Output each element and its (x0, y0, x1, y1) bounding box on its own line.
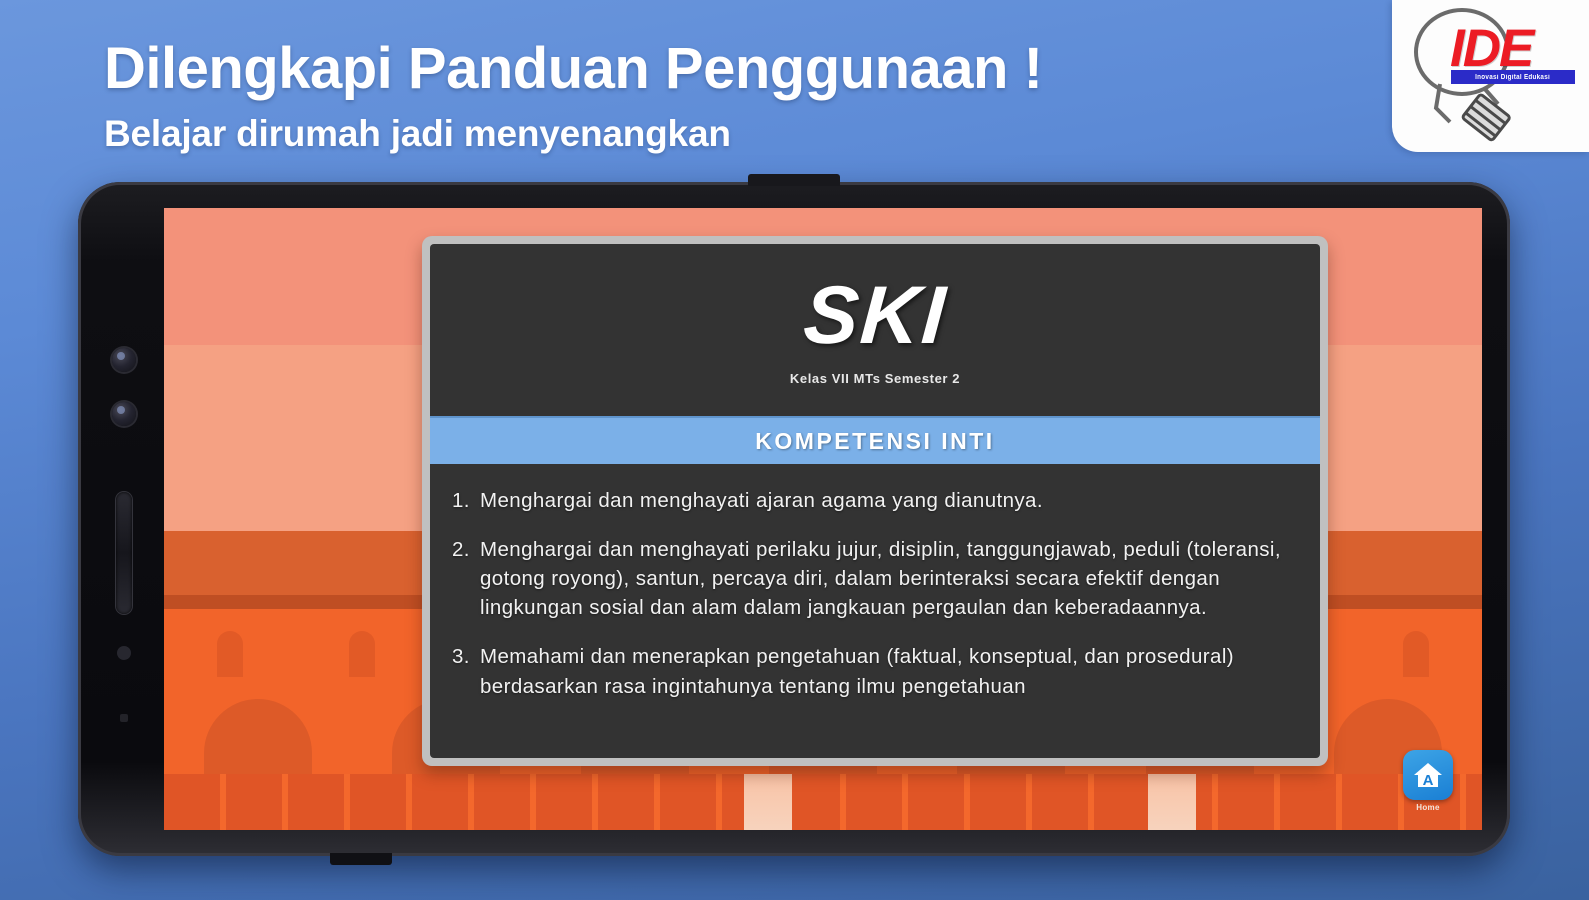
list-item-number: 1. (452, 486, 480, 515)
background-light-panel (744, 774, 792, 830)
phone-bottom-port-nub (330, 853, 392, 865)
background-window (1403, 631, 1429, 677)
background-window (349, 631, 375, 677)
page-title: Dilengkapi Panduan Penggunaan ! (104, 38, 1042, 101)
list-item-text: Menghargai dan menghayati ajaran agama y… (480, 486, 1296, 515)
lens-glint (117, 352, 125, 360)
phone-screen: SKI Kelas VII MTs Semester 2 KOMPETENSI … (164, 208, 1482, 830)
phone-left-bezel (90, 196, 164, 842)
camera-lens-icon (112, 348, 136, 372)
page-subtitle: Belajar dirumah jadi menyenangkan (104, 113, 1042, 155)
brand-logo-panel[interactable]: IDE Inovasi Digital Edukasi (1392, 0, 1589, 152)
logo-inner: IDE Inovasi Digital Edukasi (1392, 0, 1589, 152)
subject-title: SKI (801, 275, 949, 357)
lens-glint (117, 406, 125, 414)
card-title-zone: SKI Kelas VII MTs Semester 2 (430, 244, 1320, 416)
background-light-panel (1148, 774, 1196, 830)
svg-text:A: A (1423, 772, 1434, 789)
list-item-text: Menghargai dan menghayati perilaku jujur… (480, 535, 1296, 622)
speaker-slot-icon (116, 492, 132, 614)
logo-tagline-bar: Inovasi Digital Edukasi (1451, 70, 1575, 84)
list-item-text: Memahami dan menerapkan pengetahuan (fak… (480, 642, 1296, 700)
sensor-dot-icon (117, 646, 131, 660)
background-colonnade (164, 774, 1482, 830)
section-header-label: KOMPETENSI INTI (755, 428, 994, 455)
list-item: 3. Memahami dan menerapkan pengetahuan (… (452, 642, 1296, 700)
home-house-icon[interactable]: A (1403, 750, 1453, 800)
list-item: 1. Menghargai dan menghayati ajaran agam… (452, 486, 1296, 515)
phone-mockup: SKI Kelas VII MTs Semester 2 KOMPETENSI … (78, 182, 1510, 856)
list-item-number: 2. (452, 535, 480, 622)
content-card: SKI Kelas VII MTs Semester 2 KOMPETENSI … (422, 236, 1328, 766)
list-item: 2. Menghargai dan menghayati perilaku ju… (452, 535, 1296, 622)
background-window (217, 631, 243, 677)
competency-list: 1. Menghargai dan menghayati ajaran agam… (430, 464, 1320, 758)
home-button[interactable]: A Home (1400, 750, 1456, 812)
home-button-label: Home (1416, 803, 1439, 812)
sensor-dot-icon (120, 714, 128, 722)
section-header: KOMPETENSI INTI (430, 416, 1320, 464)
camera-lens-icon (112, 402, 136, 426)
phone-top-speaker-nub (748, 174, 840, 186)
list-item-number: 3. (452, 642, 480, 700)
logo-tagline: Inovasi Digital Edukasi (1476, 74, 1551, 81)
logo-wordmark: IDE (1450, 22, 1532, 75)
card-body: SKI Kelas VII MTs Semester 2 KOMPETENSI … (430, 244, 1320, 758)
headline-block: Dilengkapi Panduan Penggunaan ! Belajar … (104, 38, 1042, 155)
subject-subtitle: Kelas VII MTs Semester 2 (790, 371, 960, 386)
promo-banner: Dilengkapi Panduan Penggunaan ! Belajar … (0, 0, 1589, 900)
